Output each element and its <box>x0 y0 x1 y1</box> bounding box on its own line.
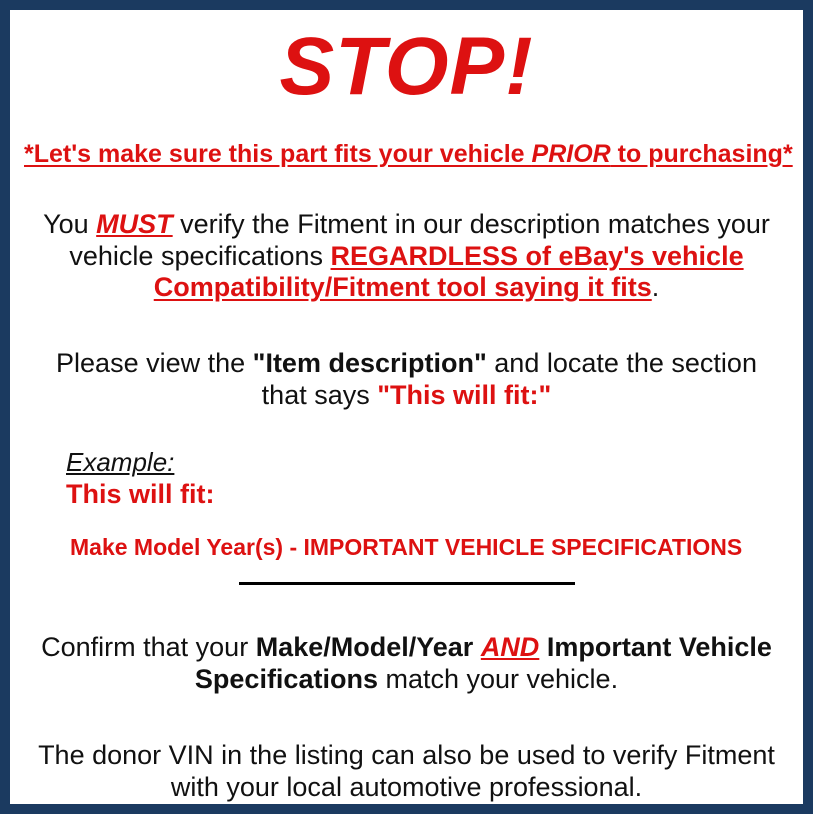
example-this-will-fit-heading: This will fit: <box>66 479 789 510</box>
confirm-space-2 <box>539 632 547 662</box>
confirm-seg1: Confirm that your <box>41 632 256 662</box>
tagline-before: *Let's make sure this part fits your veh… <box>24 140 532 168</box>
must-verify-paragraph: You MUST verify the Fitment in our descr… <box>24 209 789 305</box>
make-model-year-emphasis: Make/Model/Year <box>256 632 474 662</box>
desc-paragraph-seg1: Please view the <box>56 348 253 378</box>
confirm-space-1 <box>473 632 481 662</box>
example-specification-line: Make Model Year(s) - IMPORTANT VEHICLE S… <box>66 534 789 560</box>
must-paragraph-seg1: You <box>43 209 96 239</box>
must-paragraph-seg3: . <box>652 272 660 302</box>
horizontal-divider <box>239 582 575 585</box>
divider-wrapper <box>24 582 789 596</box>
must-emphasis: MUST <box>96 209 173 239</box>
item-description-quote: "Item description" <box>253 348 487 378</box>
item-description-paragraph: Please view the "Item description" and l… <box>24 348 789 412</box>
confirm-paragraph: Confirm that your Make/Model/Year AND Im… <box>24 632 789 696</box>
donor-vin-paragraph: The donor VIN in the listing can also be… <box>24 740 789 804</box>
stop-heading: STOP! <box>24 26 789 108</box>
example-label: Example: <box>66 448 789 477</box>
tagline-prior-emphasis: PRIOR <box>532 140 611 168</box>
and-emphasis: AND <box>481 632 540 662</box>
tagline: *Let's make sure this part fits your veh… <box>24 140 789 169</box>
confirm-seg2: match your vehicle. <box>378 664 618 694</box>
tagline-after: to purchasing* <box>611 140 793 168</box>
fitment-notice-banner: STOP! *Let's make sure this part fits yo… <box>0 0 813 814</box>
notice-inner-panel: STOP! *Let's make sure this part fits yo… <box>10 10 803 804</box>
this-will-fit-quote: "This will fit:" <box>377 380 551 410</box>
example-block: Example: This will fit: Make Model Year(… <box>24 448 789 560</box>
